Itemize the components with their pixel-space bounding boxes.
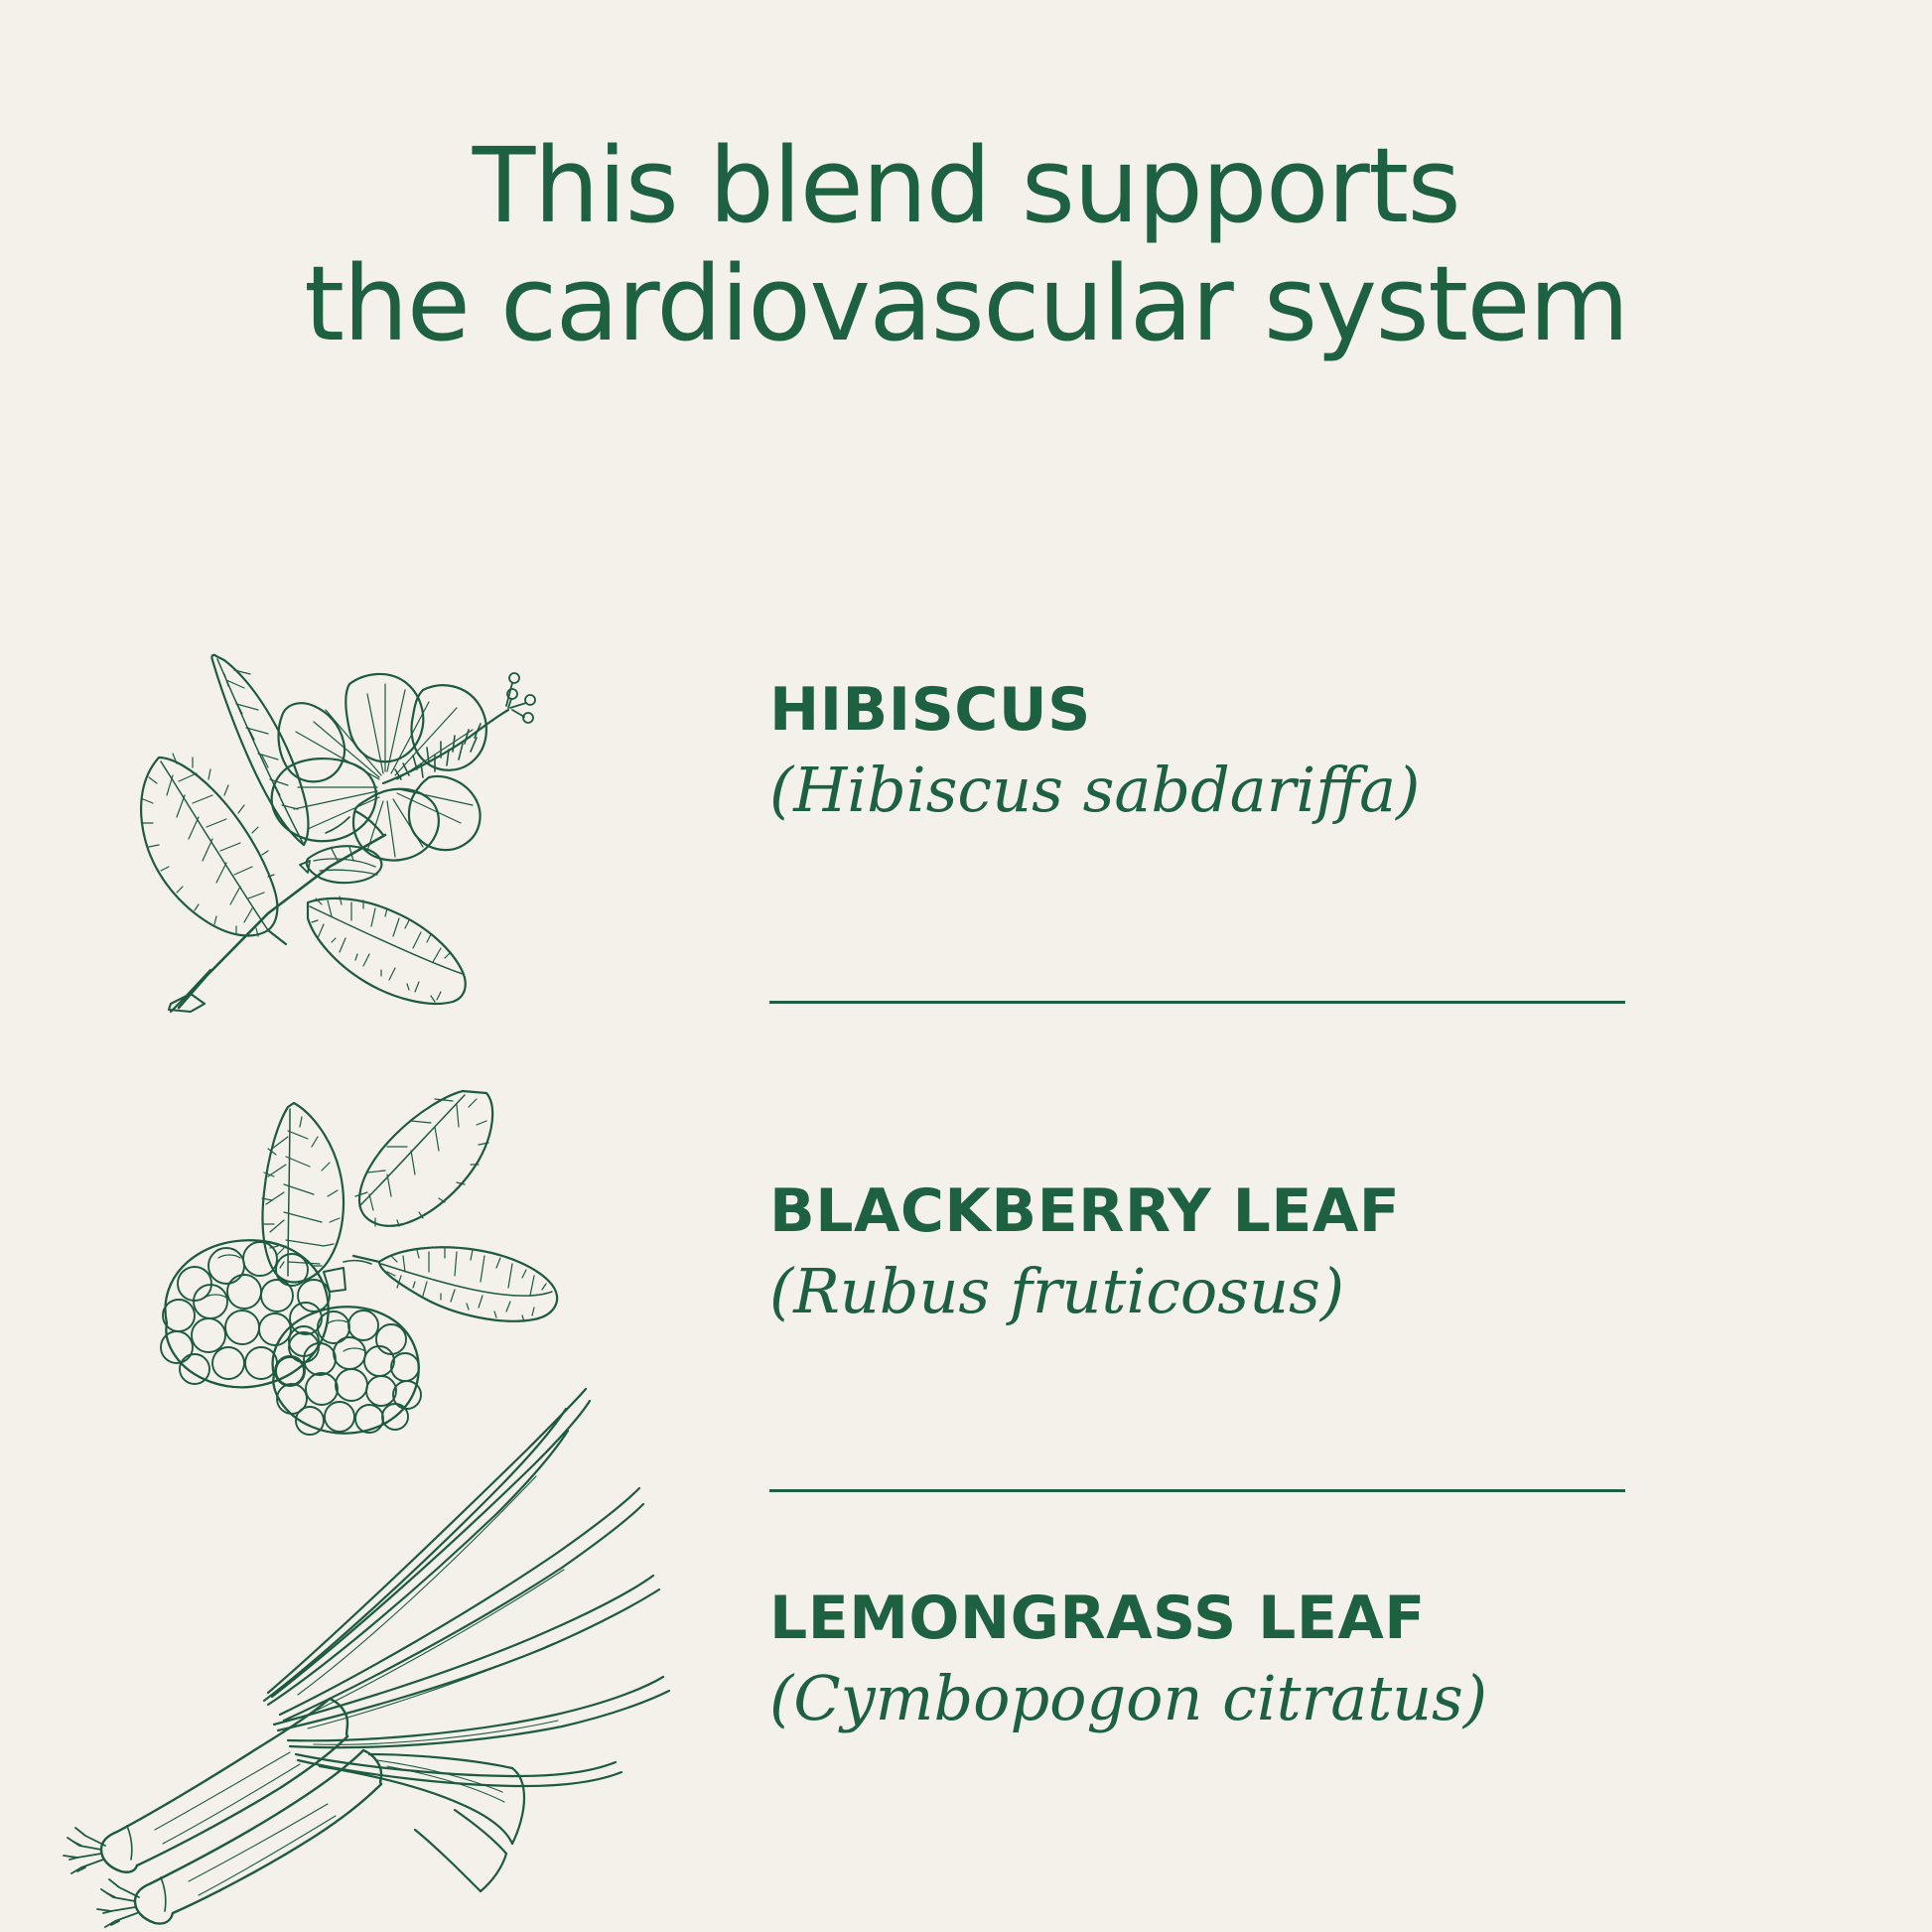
ingredient-text-hibiscus: HIBISCUS (Hibiscus sabdariffa) <box>769 680 1663 826</box>
divider-1 <box>769 1001 1625 1004</box>
ingredient-name: HIBISCUS <box>769 680 1663 741</box>
ingredient-latin: (Hibiscus sabdariffa) <box>769 755 1663 826</box>
hibiscus-illustration <box>119 611 576 1028</box>
ingredient-text-blackberry: BLACKBERRY LEAF (Rubus fruticosus) <box>769 1181 1663 1327</box>
ingredient-latin: (Cymbopogon citratus) <box>769 1663 1663 1734</box>
lemongrass-illustration <box>60 1365 675 1911</box>
ingredient-list: HIBISCUS (Hibiscus sabdariffa) <box>0 0 1932 1932</box>
ingredient-text-lemongrass: LEMONGRASS LEAF (Cymbopogon citratus) <box>769 1588 1663 1734</box>
product-benefit-card: This blend supports the cardiovascular s… <box>0 0 1932 1932</box>
ingredient-name: LEMONGRASS LEAF <box>769 1588 1663 1649</box>
ingredient-latin: (Rubus fruticosus) <box>769 1256 1663 1327</box>
ingredient-name: BLACKBERRY LEAF <box>769 1181 1663 1242</box>
divider-2 <box>769 1489 1625 1492</box>
